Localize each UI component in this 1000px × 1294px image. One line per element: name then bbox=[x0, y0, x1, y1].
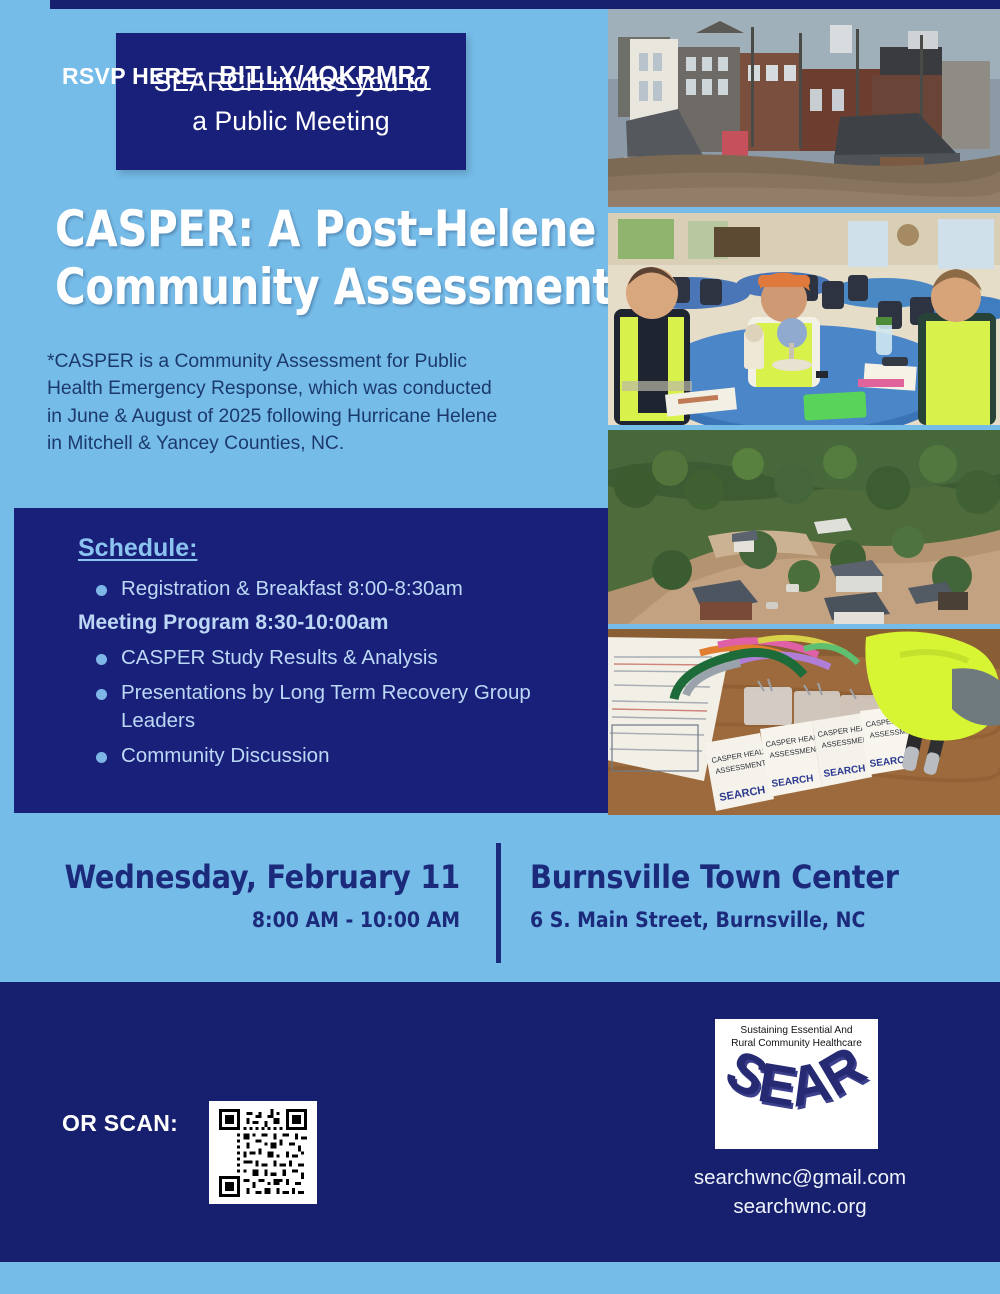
photo-collage: CASPER HEALTH ASSESSMENT SEARCH CASPER H… bbox=[608, 9, 1000, 815]
event-address: 6 S. Main Street, Burnsville, NC bbox=[530, 908, 960, 932]
aerial-flood-damage-photo bbox=[608, 430, 1000, 624]
rsvp-link[interactable]: BIT.LY/4QKRMR7 bbox=[219, 62, 431, 91]
schedule-heading: Schedule: bbox=[78, 534, 608, 563]
invite-line-2: a Public Meeting bbox=[192, 102, 390, 141]
invitation-badge: SEARCH invites you to a Public Meeting bbox=[116, 33, 466, 170]
contact-email[interactable]: searchwnc@gmail.com bbox=[600, 1163, 1000, 1192]
bullet-icon bbox=[96, 752, 107, 763]
bullet-icon bbox=[96, 689, 107, 700]
top-accent-strip bbox=[50, 0, 1000, 9]
schedule-item-label: Registration & Breakfast 8:00-8:30am bbox=[121, 575, 463, 603]
schedule-item-presentations: Presentations by Long Term Recovery Grou… bbox=[78, 679, 608, 735]
blurb-line-2: Health Emergency Response, which was con… bbox=[47, 375, 577, 402]
schedule-item-results: CASPER Study Results & Analysis bbox=[78, 644, 608, 672]
event-date: Wednesday, February 11 bbox=[60, 858, 460, 896]
community-meeting-photo bbox=[608, 213, 1000, 425]
qr-code[interactable] bbox=[209, 1101, 317, 1204]
rsvp-row: RSVP HERE: BIT.LY/4QKRMR7 bbox=[62, 62, 431, 91]
bottom-accent-strip bbox=[0, 1262, 1000, 1294]
title-line-2: Community Assessment bbox=[55, 258, 576, 316]
casper-description: *CASPER is a Community Assessment for Pu… bbox=[47, 348, 577, 458]
logo-tagline: Sustaining Essential And Rural Community… bbox=[715, 1025, 878, 1051]
location-column: Burnsville Town Center 6 S. Main Street,… bbox=[530, 858, 960, 932]
flooded-downtown-photo bbox=[608, 9, 1000, 207]
date-column: Wednesday, February 11 8:00 AM - 10:00 A… bbox=[60, 858, 460, 932]
event-venue: Burnsville Town Center bbox=[530, 858, 960, 896]
schedule-item-label: CASPER Study Results & Analysis bbox=[121, 644, 438, 672]
page-title: CASPER: A Post-Helene Community Assessme… bbox=[55, 200, 615, 316]
contact-website[interactable]: searchwnc.org bbox=[600, 1192, 1000, 1221]
schedule-program-heading: Meeting Program 8:30-10:00am bbox=[78, 611, 608, 635]
blurb-line-1: *CASPER is a Community Assessment for Pu… bbox=[47, 348, 577, 375]
qr-code-icon bbox=[217, 1109, 309, 1197]
rsvp-label: RSVP HERE: bbox=[62, 63, 205, 90]
band-divider bbox=[496, 843, 501, 963]
contact-info: searchwnc@gmail.com searchwnc.org bbox=[600, 1163, 1000, 1221]
title-line-1: CASPER: A Post-Helene bbox=[55, 200, 576, 258]
logo-wordmark: SEARCH SEARCH bbox=[715, 1049, 878, 1147]
scan-label: OR SCAN: bbox=[62, 1110, 178, 1137]
blurb-line-4: in Mitchell & Yancey Counties, NC. bbox=[47, 430, 577, 457]
schedule-item-label: Community Discussion bbox=[121, 742, 329, 770]
svg-text:SEARCH: SEARCH bbox=[715, 1049, 877, 1119]
bullet-icon bbox=[96, 654, 107, 665]
logo-tagline-line-1: Sustaining Essential And bbox=[715, 1025, 878, 1038]
event-time: 8:00 AM - 10:00 AM bbox=[60, 908, 460, 932]
date-location-band: Wednesday, February 11 8:00 AM - 10:00 A… bbox=[0, 820, 1000, 982]
schedule-item-registration: Registration & Breakfast 8:00-8:30am bbox=[78, 575, 608, 603]
search-logo: Sustaining Essential And Rural Community… bbox=[715, 1019, 878, 1149]
flyer-page: SEARCH invites you to a Public Meeting C… bbox=[0, 0, 1000, 1294]
bullet-icon bbox=[96, 585, 107, 596]
blurb-line-3: in June & August of 2025 following Hurri… bbox=[47, 403, 577, 430]
schedule-item-label: Presentations by Long Term Recovery Grou… bbox=[121, 679, 551, 735]
casper-badges-photo: CASPER HEALTH ASSESSMENT SEARCH CASPER H… bbox=[608, 629, 1000, 815]
schedule-panel: Schedule: Registration & Breakfast 8:00-… bbox=[14, 508, 608, 813]
schedule-item-discussion: Community Discussion bbox=[78, 742, 608, 770]
